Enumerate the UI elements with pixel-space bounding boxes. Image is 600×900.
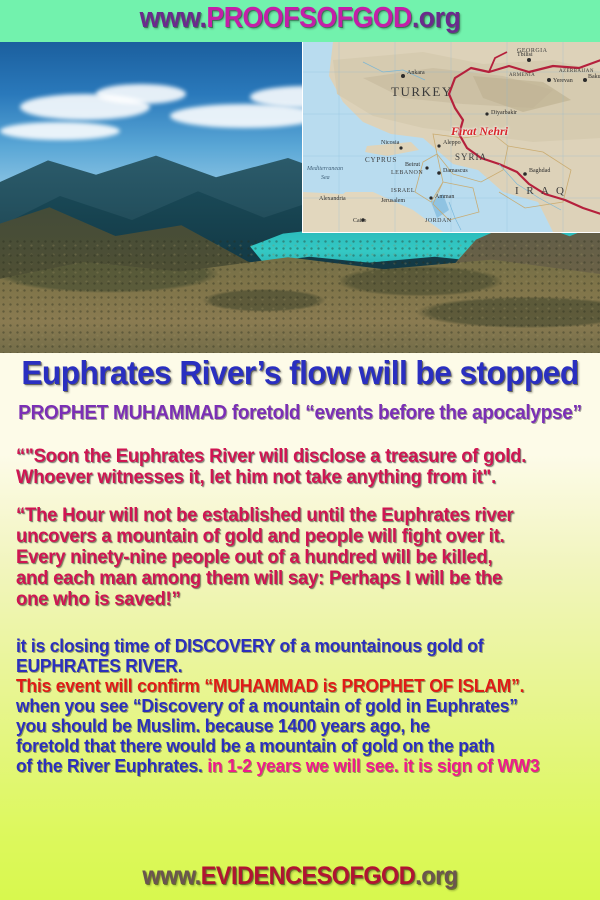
site-url-top-domain: PROOFSOFGOD	[206, 2, 411, 34]
svg-text:Tbilisi: Tbilisi	[517, 52, 533, 58]
site-url-bottom-domain: EVIDENCESOFGOD	[201, 862, 415, 890]
svg-text:Amman: Amman	[435, 194, 454, 200]
svg-text:TURKEY: TURKEY	[391, 84, 453, 99]
svg-text:SYRIA: SYRIA	[455, 152, 487, 162]
svg-text:LEBANON: LEBANON	[391, 170, 423, 176]
svg-text:ISRAEL: ISRAEL	[391, 188, 415, 194]
terrain-texture	[0, 238, 600, 353]
svg-text:Aleppo: Aleppo	[443, 140, 461, 146]
svg-text:Yerevan: Yerevan	[553, 78, 573, 84]
svg-text:ARMENIA: ARMENIA	[509, 73, 535, 78]
site-url-bottom-www: www.	[142, 862, 200, 890]
cloud-shape	[0, 122, 120, 140]
svg-text:Ankara: Ankara	[407, 70, 425, 76]
svg-text:CYPRUS: CYPRUS	[365, 156, 397, 164]
svg-text:Mediterranean: Mediterranean	[306, 166, 343, 172]
commentary-line-blue-one: it is closing time of DISCOVERY of a mou…	[16, 636, 575, 676]
svg-text:JORDAN: JORDAN	[425, 218, 452, 224]
body-content: “"Soon the Euphrates River will disclose…	[16, 446, 592, 776]
svg-text:Sea: Sea	[321, 175, 330, 181]
site-url-top-tld: .org	[412, 2, 461, 34]
svg-text:Jerusalem: Jerusalem	[381, 198, 405, 204]
site-url-bottom-tld: .org	[415, 862, 457, 890]
svg-text:Alexandria: Alexandria	[319, 196, 346, 202]
page-subtitle: PROPHET MUHAMMAD foretold “events before…	[15, 402, 585, 425]
page-title: Euphrates River’s flow will be stopped	[12, 355, 588, 391]
commentary-line-blue-two: when you see “Discovery of a mountain of…	[16, 696, 575, 776]
site-url-top[interactable]: www.PROOFSOFGOD.org	[24, 2, 576, 35]
svg-text:Diyarbakir: Diyarbakir	[491, 110, 517, 116]
site-url-top-www: www.	[140, 2, 207, 34]
ww3-warning-text: in 1-2 years we will see. it is sign of …	[207, 756, 539, 776]
hadith-quote-one: “"Soon the Euphrates River will disclose…	[16, 446, 575, 488]
svg-text:Baghdad: Baghdad	[529, 168, 550, 174]
svg-text:Damascus: Damascus	[443, 168, 468, 174]
commentary-line-red: This event will confirm “MUHAMMAD is PRO…	[16, 676, 575, 696]
svg-text:Beirut: Beirut	[405, 162, 420, 168]
poster-root: www.PROOFSOFGOD.org	[0, 0, 600, 900]
svg-text:Cairo: Cairo	[353, 218, 366, 224]
top-banner: www.PROOFSOFGOD.org	[0, 0, 600, 42]
hadith-quote-two: “The Hour will not be established until …	[16, 505, 575, 610]
map-inset[interactable]: TURKEY SYRIA I R A Q CYPRUS LEBANON ISRA…	[302, 42, 600, 233]
firat-nehri-label: Fırat Nehri	[451, 124, 508, 139]
svg-text:I R A Q: I R A Q	[515, 185, 566, 197]
svg-text:Baku: Baku	[588, 74, 600, 80]
cloud-shape	[96, 84, 186, 104]
site-url-bottom[interactable]: www.EVIDENCESOFGOD.org	[21, 862, 579, 891]
svg-text:Nicosia: Nicosia	[381, 140, 400, 146]
